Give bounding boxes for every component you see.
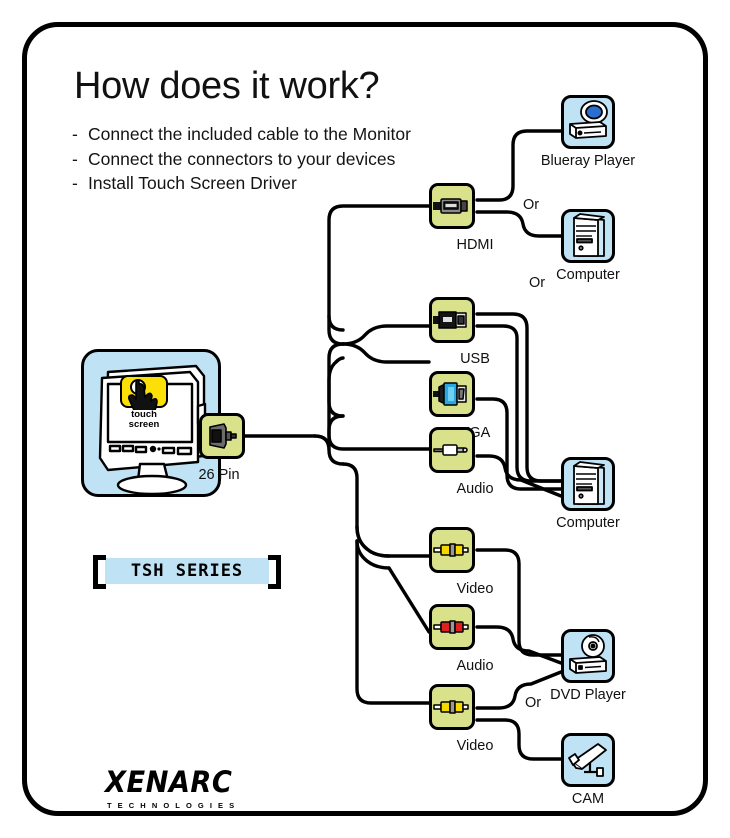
device-computer-lower-label: Computer	[513, 515, 663, 531]
computer-tower-icon	[564, 460, 612, 508]
security-camera-icon	[564, 736, 612, 784]
connector-vga[interactable]	[429, 371, 475, 417]
connector-audio-rca[interactable]	[429, 604, 475, 650]
hdmi-connector-icon	[432, 186, 472, 226]
or-label-usb: Or	[529, 275, 545, 291]
device-blueray-player[interactable]	[561, 95, 615, 149]
usb-connector-icon	[432, 300, 472, 340]
connector-video-top-label: Video	[415, 581, 535, 597]
brand-logo: XENARC TECHNOLOGIES	[105, 765, 280, 810]
device-blueray-player-label: Blueray Player	[513, 153, 663, 169]
rca-video-connector-icon	[432, 530, 472, 570]
series-badge: [ ] TSH SERIES	[93, 555, 281, 589]
brand-name: XENARC	[105, 765, 270, 799]
device-computer-lower[interactable]	[561, 457, 615, 511]
device-cam-label: CAM	[513, 791, 663, 807]
rca-audio-connector-icon	[432, 607, 472, 647]
26-pin-connector-icon	[202, 416, 242, 456]
connector-video-bottom[interactable]	[429, 684, 475, 730]
device-cam[interactable]	[561, 733, 615, 787]
connector-audio-jack[interactable]	[429, 427, 475, 473]
computer-tower-icon	[564, 212, 612, 260]
or-label-video: Or	[525, 695, 541, 711]
series-label-text: TSH SERIES	[93, 561, 281, 581]
touch-hand-icon	[120, 375, 168, 408]
audio-jack-connector-icon	[432, 430, 472, 470]
device-computer-upper[interactable]	[561, 209, 615, 263]
diagram-frame: How does it work? -Connect the included …	[22, 22, 708, 816]
blueray-player-icon	[564, 98, 612, 146]
connector-audio-jack-label: Audio	[415, 481, 535, 497]
connector-hdmi[interactable]	[429, 183, 475, 229]
connector-hdmi-label: HDMI	[415, 237, 535, 253]
vga-connector-icon	[432, 374, 472, 414]
touch-line-2: screen	[129, 419, 160, 430]
rca-video-connector-icon	[432, 687, 472, 727]
brand-tagline: TECHNOLOGIES	[107, 801, 280, 810]
or-label-hdmi: Or	[523, 197, 539, 213]
dvd-player-icon	[564, 632, 612, 680]
connector-26-pin-label: 26 Pin	[159, 467, 279, 483]
connector-26-pin[interactable]	[199, 413, 245, 459]
connector-usb[interactable]	[429, 297, 475, 343]
connector-usb-label: USB	[415, 351, 535, 367]
connector-video-bottom-label: Video	[415, 738, 535, 754]
device-dvd-player[interactable]	[561, 629, 615, 683]
connector-audio-rca-label: Audio	[415, 658, 535, 674]
connector-video-top[interactable]	[429, 527, 475, 573]
touch-screen-caption: touch screen	[110, 410, 178, 430]
